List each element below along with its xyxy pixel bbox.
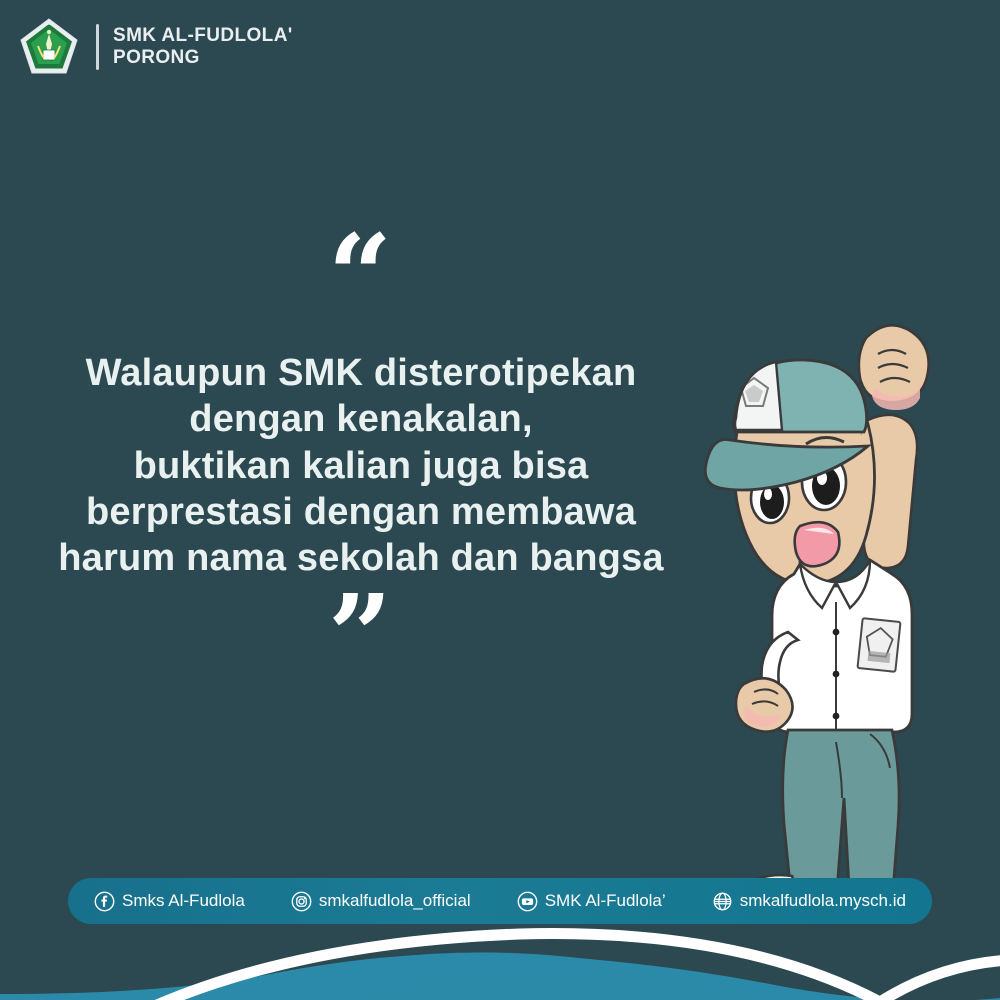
quote-line: dengan kenakalan, [52,396,670,442]
social-links-bar: Smks Al-Fudlola smkalfudlola_official SM… [68,878,932,924]
school-name-line2: PORONG [113,47,293,69]
social-label-website: smkalfudlola.mysch.id [740,891,906,911]
facebook-icon [94,891,115,912]
quote-close-mark: ” [0,592,722,672]
social-label-instagram: smkalfudlola_official [319,891,471,911]
quote-line: buktikan kalian juga bisa [52,443,670,489]
school-name-line1: SMK AL-FUDLOLA' [113,25,293,47]
header-title-block: SMK AL-FUDLOLA' PORONG [113,25,293,69]
cartoon-student-raised-fist [692,302,992,922]
quote-block: “ Walaupun SMK disterotipekan dengan ken… [0,232,722,672]
quote-line: Walaupun SMK disterotipekan [52,350,670,396]
svg-text:•••: ••• [47,23,50,27]
social-link-instagram[interactable]: smkalfudlola_official [291,891,471,912]
youtube-icon [517,891,538,912]
header: ••• SMK AL-FUDLOLA' PORONG [18,16,293,78]
student-illustration-svg [692,302,992,922]
social-label-facebook: Smks Al-Fudlola [122,891,245,911]
instagram-icon [291,891,312,912]
social-link-facebook[interactable]: Smks Al-Fudlola [94,891,245,912]
school-crest-logo-icon: ••• [18,16,80,78]
quote-line: berprestasi dengan membawa [52,489,670,535]
vertical-divider [96,24,99,70]
quote-open-mark: “ [0,232,722,308]
school-crest-logo: ••• [18,16,80,78]
social-label-youtube: SMK Al-Fudlola’ [545,891,666,911]
quote-text: Walaupun SMK disterotipekan dengan kenak… [0,350,722,582]
globe-icon [712,891,733,912]
social-link-youtube[interactable]: SMK Al-Fudlola’ [517,891,666,912]
shirt-badge-icon [857,618,900,672]
social-link-website[interactable]: smkalfudlola.mysch.id [712,891,906,912]
